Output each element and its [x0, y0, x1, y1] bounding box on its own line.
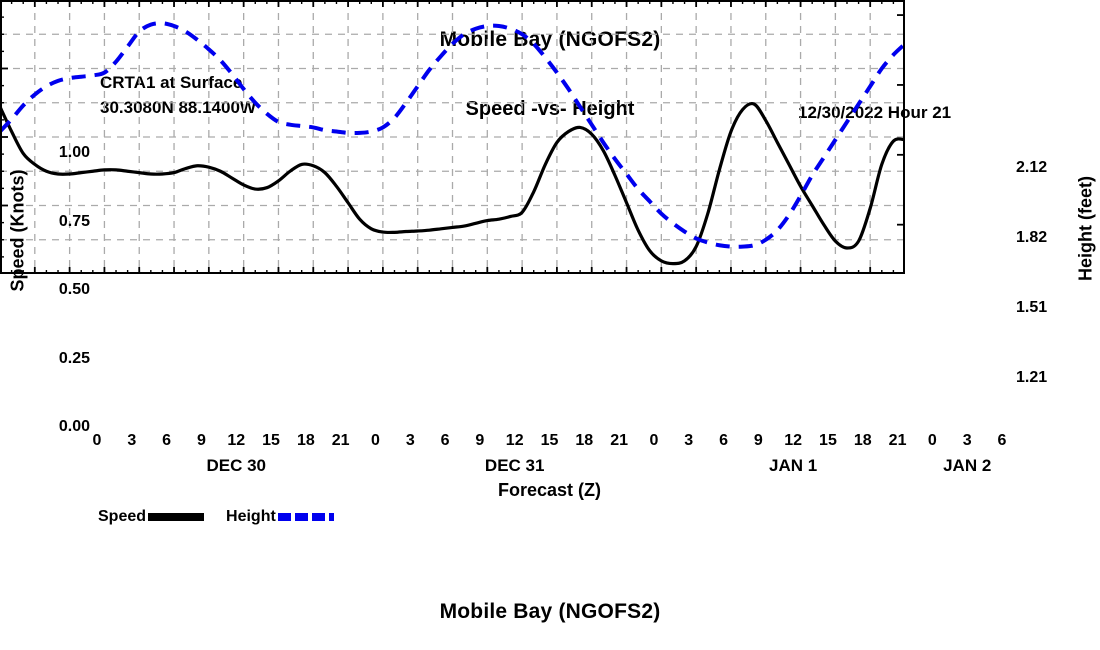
- x-tick-label: 0: [371, 432, 380, 450]
- x-tick-label: 21: [332, 432, 350, 450]
- x-tick-label: 15: [819, 432, 837, 450]
- x-tick-label: 9: [754, 432, 763, 450]
- y-tick-label-left: 1.00: [59, 144, 90, 162]
- x-tick-label: 12: [506, 432, 524, 450]
- x-tick-label: 18: [297, 432, 315, 450]
- x-tick-label: 18: [854, 432, 872, 450]
- x-tick-label: 0: [649, 432, 658, 450]
- plot-frame: [0, 0, 905, 274]
- legend-item-speed: Speed: [98, 508, 204, 526]
- x-tick-label: 15: [262, 432, 280, 450]
- x-tick-label: 3: [127, 432, 136, 450]
- x-tick-label: 21: [889, 432, 907, 450]
- x-tick-label: 3: [684, 432, 693, 450]
- x-axis-day-labels: DEC 30DEC 31JAN 1JAN 2: [97, 456, 1002, 480]
- legend-swatch-speed: [148, 513, 204, 521]
- x-day-label: JAN 2: [943, 456, 991, 476]
- y-tick-label-right: 1.51: [1016, 299, 1047, 317]
- x-axis-title: Forecast (Z): [97, 480, 1002, 501]
- x-tick-label: 15: [541, 432, 559, 450]
- y-axis-title-left: Speed (Knots): [8, 121, 29, 341]
- y-tick-label-right: 1.21: [1016, 369, 1047, 387]
- y-axis-labels-right: 1.211.511.822.12: [1016, 153, 1076, 427]
- x-tick-label: 3: [406, 432, 415, 450]
- x-tick-label: 0: [93, 432, 102, 450]
- y-tick-label-left: 0.75: [59, 213, 90, 231]
- x-tick-label: 6: [719, 432, 728, 450]
- legend-swatch-height: [278, 513, 334, 521]
- x-tick-label: 6: [998, 432, 1007, 450]
- x-tick-label: 12: [227, 432, 245, 450]
- legend-label-speed: Speed: [98, 508, 146, 526]
- x-day-label: DEC 31: [485, 456, 545, 476]
- x-tick-label: 0: [928, 432, 937, 450]
- x-tick-label: 9: [197, 432, 206, 450]
- x-tick-label: 21: [610, 432, 628, 450]
- x-day-label: JAN 1: [769, 456, 817, 476]
- chart-legend: Speed Height: [98, 508, 334, 526]
- x-tick-label: 3: [963, 432, 972, 450]
- y-tick-label-right: 2.12: [1016, 159, 1047, 177]
- x-axis-tick-labels: 036912151821036912151821036912151821036: [97, 432, 1002, 456]
- y-tick-label-left: 0.00: [59, 418, 90, 436]
- y-tick-label-left: 0.25: [59, 350, 90, 368]
- x-tick-label: 9: [475, 432, 484, 450]
- legend-label-height: Height: [226, 508, 276, 526]
- y-axis-labels-left: 0.000.250.500.751.00: [30, 153, 90, 427]
- x-tick-label: 12: [784, 432, 802, 450]
- y-tick-label-right: 1.82: [1016, 229, 1047, 247]
- legend-item-height: Height: [226, 508, 334, 526]
- x-tick-label: 6: [162, 432, 171, 450]
- y-axis-title-right: Height (feet): [1076, 119, 1097, 339]
- plot-area: Speed (Knots) Height (feet): [0, 0, 905, 274]
- x-tick-label: 18: [575, 432, 593, 450]
- x-day-label: DEC 30: [206, 456, 266, 476]
- chart-title-bottom: Mobile Bay (NGOFS2): [0, 600, 1100, 624]
- y-tick-label-left: 0.50: [59, 281, 90, 299]
- x-tick-label: 6: [441, 432, 450, 450]
